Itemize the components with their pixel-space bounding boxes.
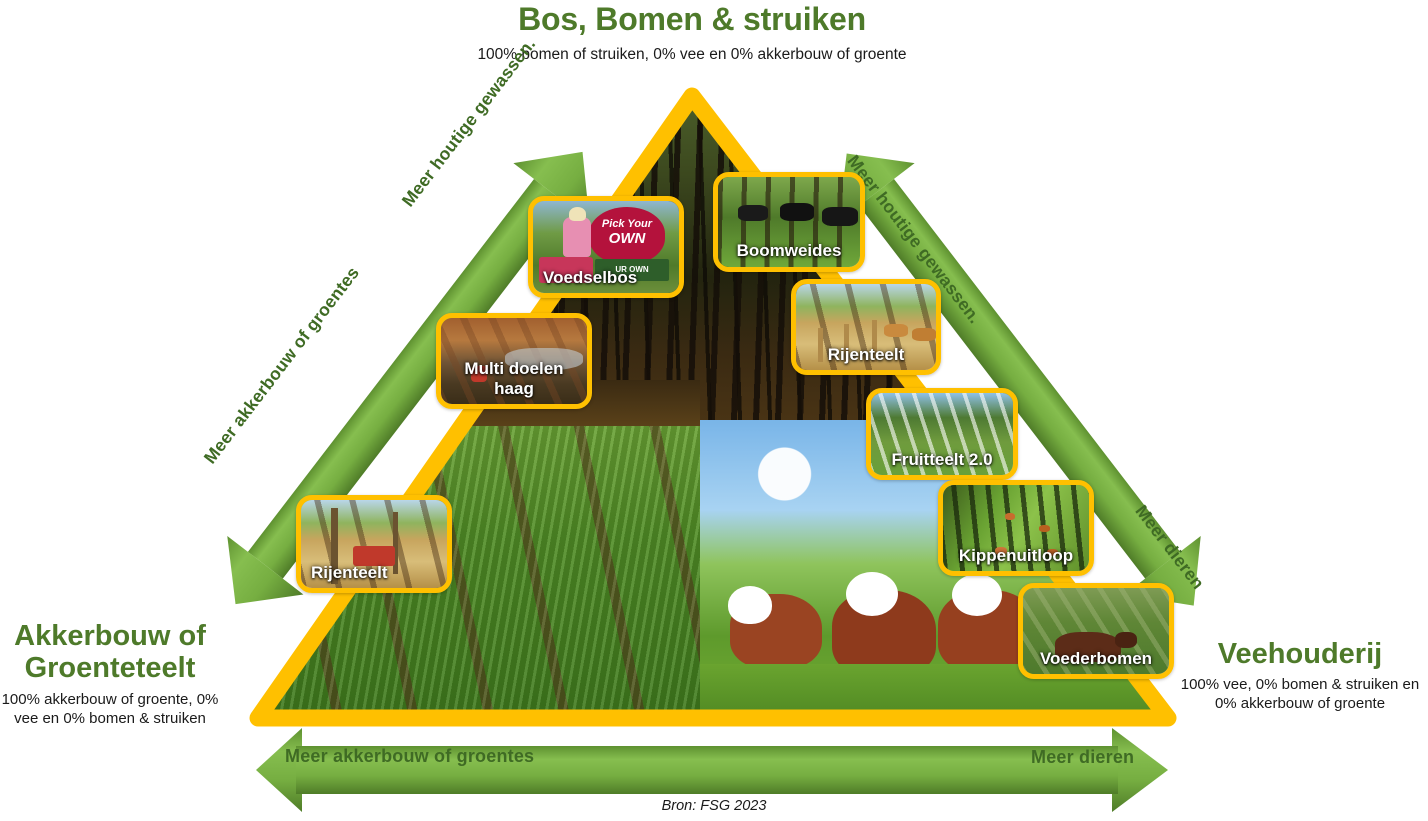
scarecrow-hat-icon [569, 207, 586, 221]
corner-label-bottom-right: Veehouderij 100% vee, 0% bomen & struike… [1175, 638, 1425, 714]
pick-your-own-sign: Pick Your OWN [589, 207, 665, 265]
card-caption: Kippenuitloop [943, 546, 1089, 566]
card-multi-doelen-haag[interactable]: Multi doelen haag [436, 313, 592, 409]
card-voederbomen[interactable]: Voederbomen [1018, 583, 1174, 679]
bottom-left-subtitle: 100% akkerbouw of groente, 0% vee en 0% … [0, 691, 226, 729]
card-caption: Rijenteelt [301, 563, 447, 583]
axis-label-bottom-right: Meer dieren [1031, 747, 1134, 768]
scarecrow-figure [563, 217, 591, 257]
corner-label-apex: Bos, Bomen & struiken 100% bomen of stru… [414, 2, 970, 64]
card-caption: Voederbomen [1023, 649, 1169, 669]
corner-label-bottom-left: Akkerbouw of Groenteteelt 100% akkerbouw… [0, 620, 226, 728]
card-voedselbos[interactable]: Pick Your OWN UR OWN Voedselbos [528, 196, 684, 298]
apex-title: Bos, Bomen & struiken [414, 2, 970, 38]
source-note: Bron: FSG 2023 [0, 798, 1428, 814]
axis-label-bottom-left: Meer akkerbouw of groentes [285, 746, 534, 767]
card-caption: Fruitteelt 2.0 [871, 450, 1013, 470]
agroforestry-triangle-diagram: Bos, Bomen & struiken 100% bomen of stru… [0, 0, 1428, 821]
card-kippenuitloop[interactable]: Kippenuitloop [938, 480, 1094, 576]
card-fruitteelt[interactable]: Fruitteelt 2.0 [866, 388, 1018, 480]
card-caption: Voedselbos [533, 268, 679, 288]
apex-subtitle: 100% bomen of struiken, 0% vee en 0% akk… [414, 45, 970, 64]
card-caption: Boomweides [718, 241, 860, 261]
bottom-left-title: Akkerbouw of Groenteteelt [0, 620, 226, 685]
card-caption: Rijenteelt [796, 345, 936, 365]
bottom-right-subtitle: 100% vee, 0% bomen & struiken en 0% akke… [1175, 676, 1425, 714]
card-rijenteelt-right[interactable]: Rijenteelt [791, 279, 941, 375]
card-caption: Multi doelen haag [441, 359, 587, 399]
card-rijenteelt-left[interactable]: Rijenteelt [296, 495, 452, 593]
bottom-right-title: Veehouderij [1175, 638, 1425, 670]
card-boomweides[interactable]: Boomweides [713, 172, 865, 272]
